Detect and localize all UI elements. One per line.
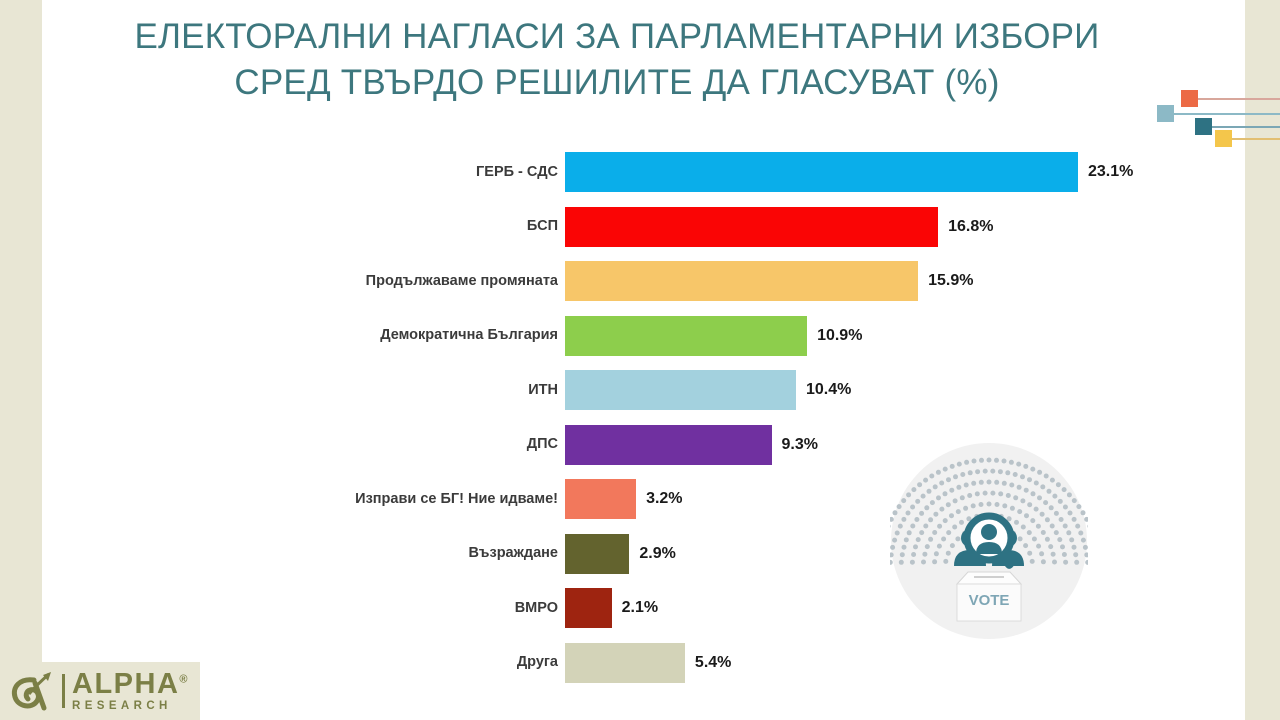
category-label: Демократична България: [138, 327, 558, 343]
logo-alpha-text: ALPHA®: [72, 670, 189, 699]
bar-7: [565, 479, 636, 519]
bar-9: [565, 588, 612, 628]
bar-4: [565, 316, 807, 356]
bar-2: [565, 207, 938, 247]
logo-research-text: RESEARCH: [72, 701, 189, 713]
chart-row: Изправи се БГ! Ние идваме!3.2%: [0, 479, 1280, 519]
value-label: 5.4%: [695, 654, 731, 672]
value-label: 3.2%: [646, 490, 682, 508]
logo-divider: [62, 674, 65, 708]
bar-10: [565, 643, 685, 683]
category-label: Друга: [138, 654, 558, 670]
bar-chart: ГЕРБ - СДС23.1%БСП16.8%Продължаваме пром…: [0, 0, 1280, 720]
chart-row: БСП16.8%: [0, 207, 1280, 247]
alpha-arrow-icon: [10, 670, 56, 712]
chart-row: Продължаваме промяната15.9%: [0, 261, 1280, 301]
category-label: ГЕРБ - СДС: [138, 164, 558, 180]
chart-row: ДПС9.3%: [0, 425, 1280, 465]
parliament-vote-svg: VOTE: [890, 442, 1088, 640]
bar-5: [565, 370, 796, 410]
category-label: Продължаваме промяната: [138, 273, 558, 289]
category-label: Изправи се БГ! Ние идваме!: [138, 491, 558, 507]
alpha-research-logo: ALPHA® RESEARCH: [0, 662, 200, 720]
category-label: ИТН: [138, 382, 558, 398]
category-label: БСП: [138, 218, 558, 234]
value-label: 16.8%: [948, 218, 993, 236]
category-label: ВМРО: [138, 600, 558, 616]
value-label: 10.4%: [806, 381, 851, 399]
chart-row: ИТН10.4%: [0, 370, 1280, 410]
ballot-vote-text: VOTE: [969, 592, 1010, 609]
chart-row: Демократична България10.9%: [0, 316, 1280, 356]
ballot-box-icon: VOTE: [957, 572, 1021, 621]
chart-row: Възраждане2.9%: [0, 534, 1280, 574]
category-label: Възраждане: [138, 545, 558, 561]
category-label: ДПС: [138, 436, 558, 452]
slide-canvas: ЕЛЕКТОРАЛНИ НАГЛАСИ ЗА ПАРЛАМЕНТАРНИ ИЗБ…: [0, 0, 1280, 720]
bar-8: [565, 534, 629, 574]
value-label: 15.9%: [928, 272, 973, 290]
value-label: 2.9%: [639, 545, 675, 563]
logo-registered-mark: ®: [179, 673, 189, 685]
parliament-vote-illustration: VOTE: [890, 442, 1088, 640]
value-label: 2.1%: [622, 599, 658, 617]
bar-3: [565, 261, 918, 301]
chart-row: ГЕРБ - СДС23.1%: [0, 152, 1280, 192]
chart-row: ВМРО2.1%: [0, 588, 1280, 628]
value-label: 10.9%: [817, 327, 862, 345]
bar-6: [565, 425, 772, 465]
bar-1: [565, 152, 1078, 192]
value-label: 9.3%: [782, 436, 818, 454]
value-label: 23.1%: [1088, 163, 1133, 181]
logo-alpha-label: ALPHA: [72, 668, 179, 700]
